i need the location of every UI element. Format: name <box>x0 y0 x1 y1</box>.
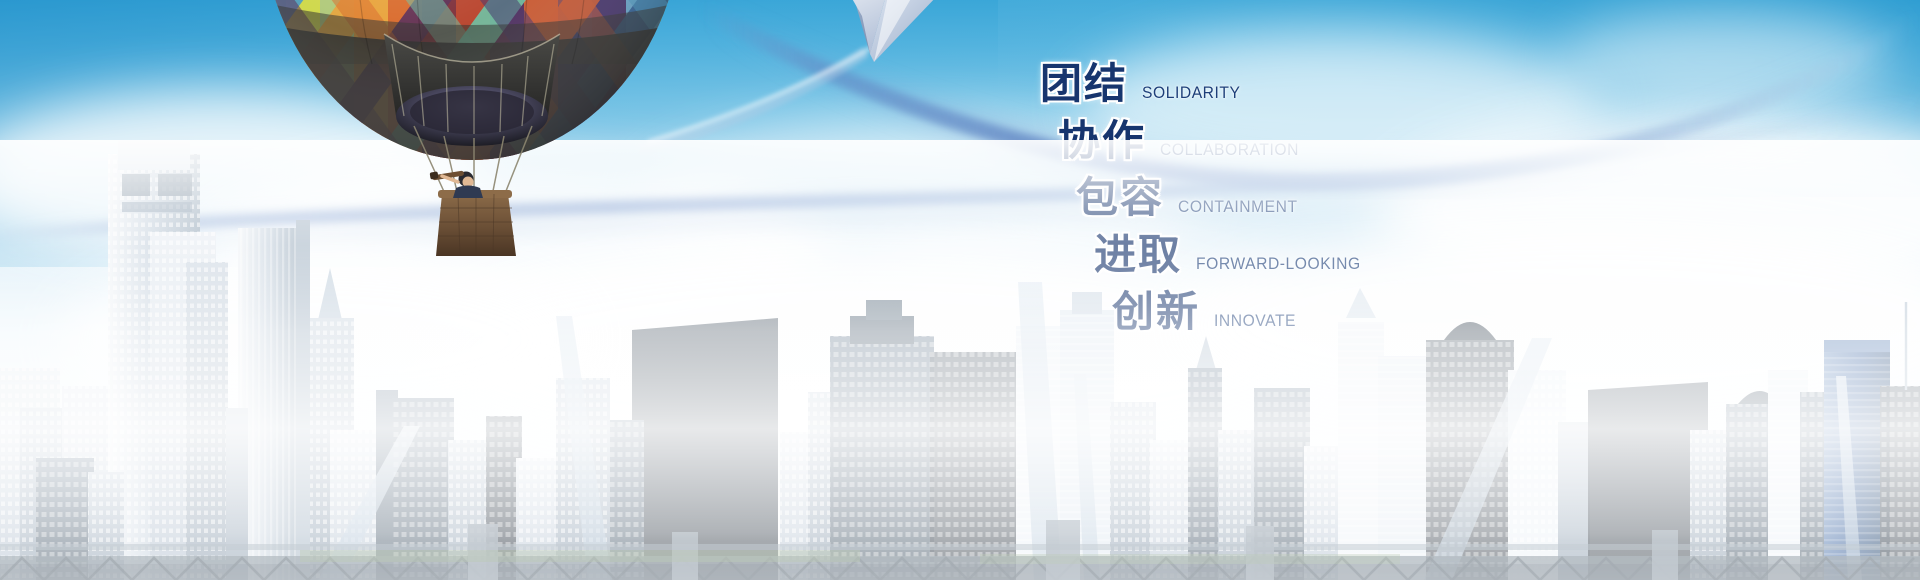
slogan-row-solidarity: 团结 SOLIDARITY <box>1040 60 1560 107</box>
slogan-en-solidarity: SOLIDARITY <box>1142 83 1241 103</box>
paper-airplane-icon <box>800 0 980 68</box>
balloon-passenger <box>430 171 483 198</box>
skyline-group-center <box>610 292 1222 580</box>
slogan-cn-solidarity: 团结 <box>1040 60 1128 107</box>
culture-banner: 团结 SOLIDARITY 协作 COLLABORATION 包容 CONTAI… <box>0 0 1920 580</box>
balloon-envelope <box>262 0 682 324</box>
hot-air-balloon <box>262 0 682 324</box>
skyline-group-right <box>1588 302 1920 580</box>
balloon-basket <box>430 171 516 256</box>
